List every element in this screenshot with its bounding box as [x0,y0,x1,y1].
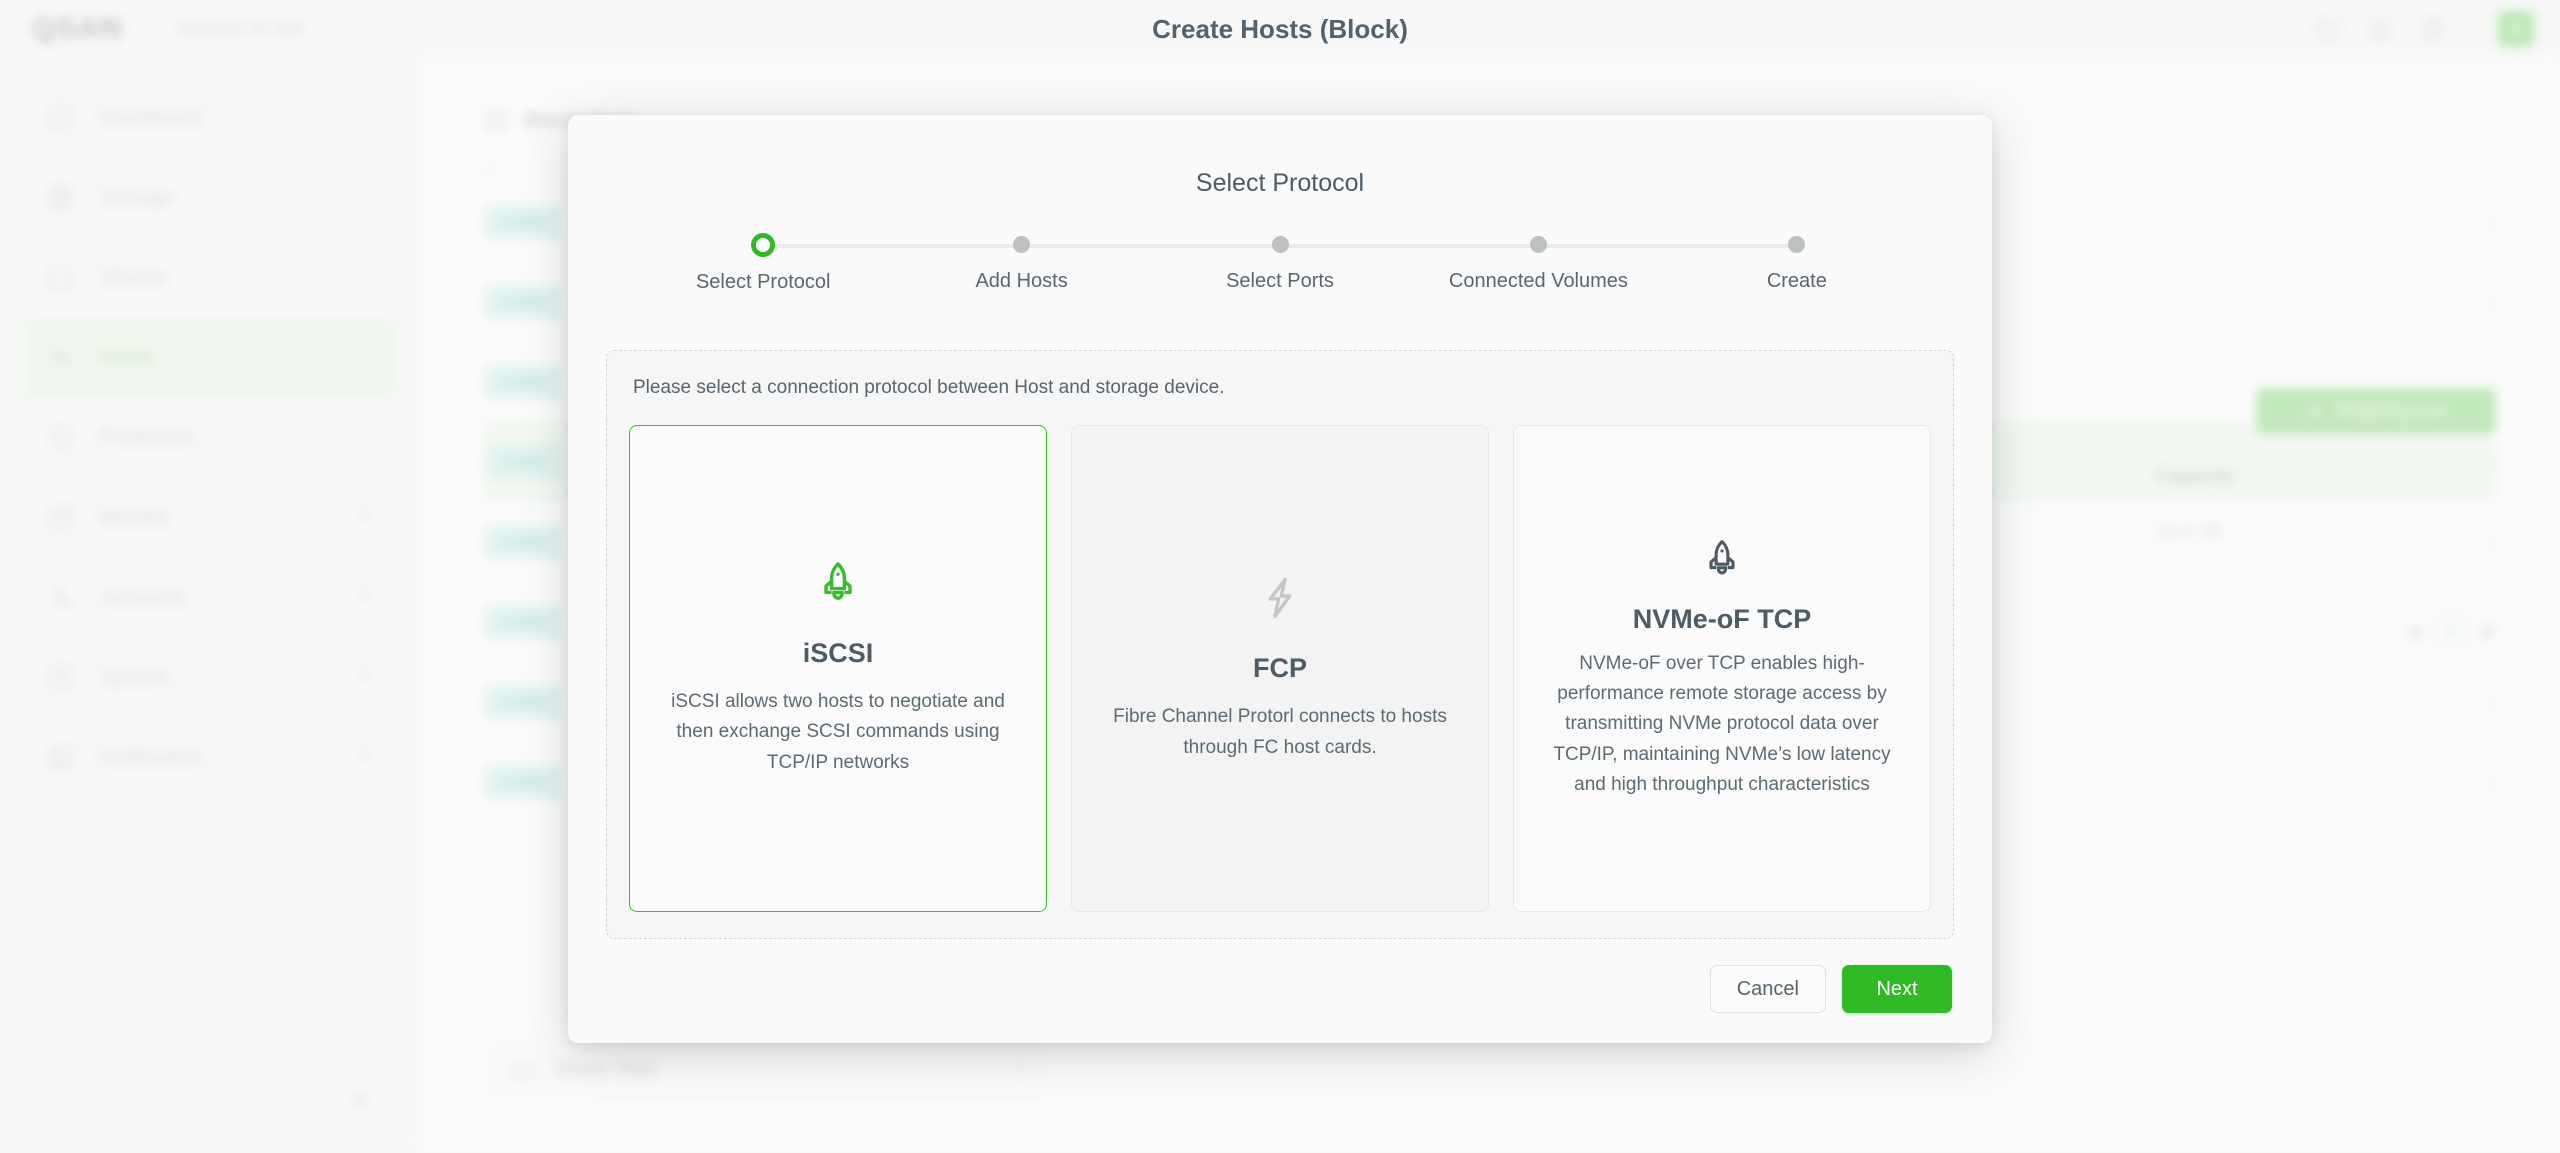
step-label: Add Hosts [975,270,1067,293]
step-dot [1272,236,1289,253]
protocol-title: iSCSI [803,638,874,669]
protocol-description: Fibre Channel Protorl connects to hosts … [1098,702,1462,763]
protocol-title: FCP [1253,653,1307,684]
protocol-card-nvme-of-tcp[interactable]: NVMe-oF TCP NVMe-oF over TCP enables hig… [1513,425,1931,912]
dialog-footer: Cancel Next [606,965,1954,1013]
protocol-card-iscsi[interactable]: iSCSI iSCSI allows two hosts to negotiat… [629,425,1047,912]
step-label: Select Ports [1226,270,1334,293]
lightning-icon [1256,574,1304,627]
step-dot-active [751,233,775,257]
step-connector [1538,244,1796,248]
step-dot [1788,236,1805,253]
selection-hint: Please select a connection protocol betw… [629,377,1931,399]
step-connector [1280,244,1538,248]
next-button[interactable]: Next [1842,965,1952,1013]
step-connector [763,244,1021,248]
wizard-stepper: Select Protocol Add Hosts Select Ports C… [634,236,1926,316]
step-select-protocol[interactable]: Select Protocol [634,236,892,294]
select-protocol-dialog: Select Protocol Select Protocol Add Host… [568,115,1992,1043]
step-dot [1013,236,1030,253]
rocket-icon [814,559,862,612]
step-label: Connected Volumes [1449,270,1628,293]
protocol-card-list: iSCSI iSCSI allows two hosts to negotiat… [629,425,1931,912]
step-dot [1530,236,1547,253]
cancel-button[interactable]: Cancel [1710,965,1826,1013]
protocol-card-fcp[interactable]: FCP Fibre Channel Protorl connects to ho… [1071,425,1489,912]
modal-overlay: Select Protocol Select Protocol Add Host… [0,0,2560,1153]
protocol-description: iSCSI allows two hosts to negotiate and … [656,687,1020,778]
step-label: Select Protocol [696,271,831,294]
protocol-description: NVMe-oF over TCP enables high-performanc… [1540,649,1904,801]
step-label: Create [1767,270,1827,293]
modal-heading: Select Protocol [606,169,1954,198]
protocol-title: NVMe-oF TCP [1633,604,1812,635]
rocket-icon [1700,537,1744,586]
step-connector [1022,244,1280,248]
protocol-selection-panel: Please select a connection protocol betw… [606,350,1954,939]
